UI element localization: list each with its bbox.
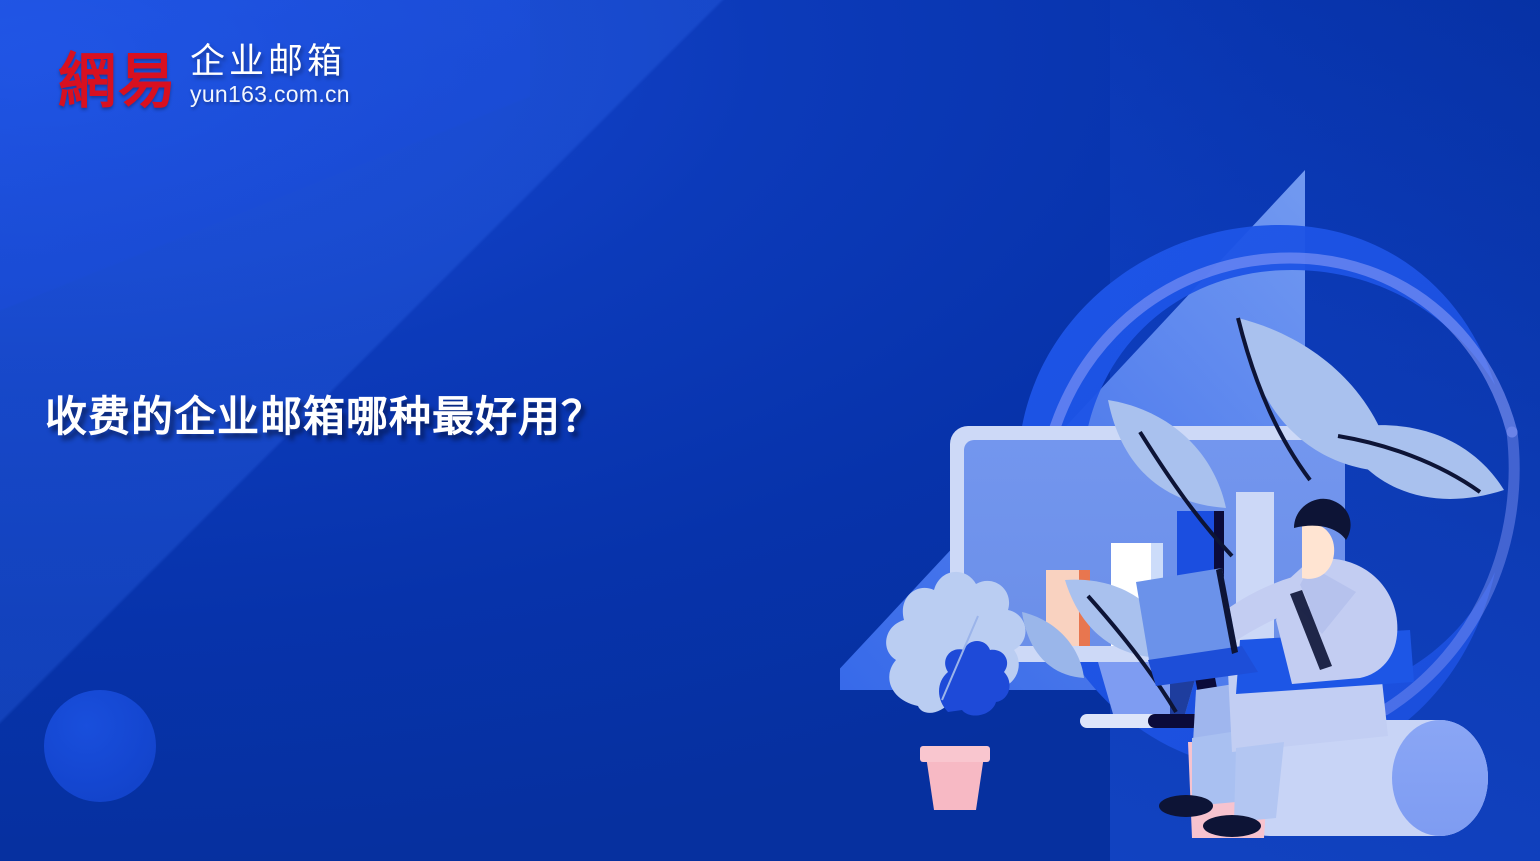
slide-canvas: 網易 企业邮箱 yun163.com.cn 收费的企业邮箱哪种最好用？ [0, 0, 1540, 861]
logo-product-name: 企业邮箱 [190, 44, 350, 80]
netease-enterprise-mail-logo[interactable]: 網易 企业邮箱 yun163.com.cn [58, 44, 350, 110]
logo-url: yun163.com.cn [190, 82, 350, 106]
background-right-wash [1110, 0, 1540, 861]
netease-logo-icon: 網易 [58, 52, 178, 111]
logo-wordmark: 企业邮箱 yun163.com.cn [190, 44, 350, 110]
page-title: 收费的企业邮箱哪种最好用？ [45, 391, 604, 444]
decorative-circle [44, 690, 156, 802]
